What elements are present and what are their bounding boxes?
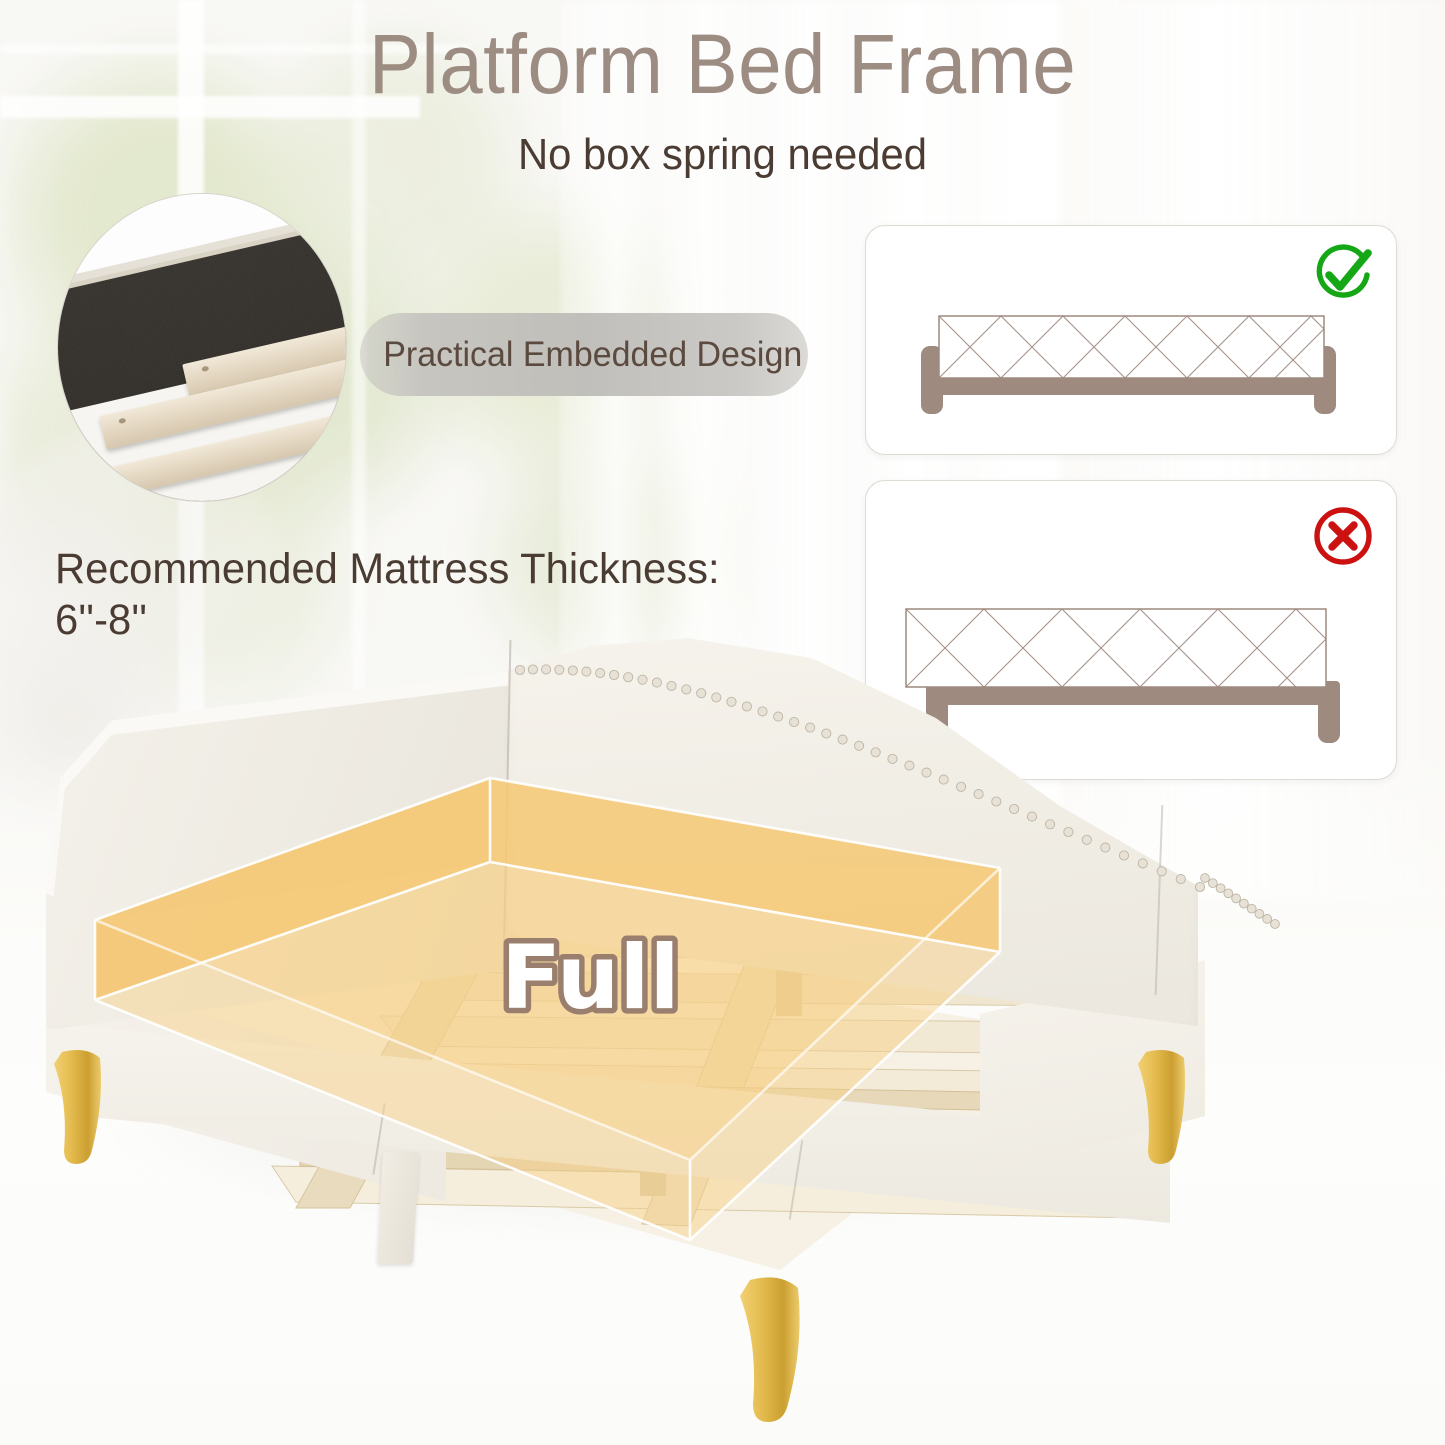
infographic-canvas: Platform Bed Frame No box spring needed … (0, 0, 1445, 1445)
size-label-full: Full (495, 922, 755, 1042)
mattress-thickness-label: Recommended Mattress Thickness: (55, 545, 792, 593)
page-title: Platform Bed Frame (51, 22, 1395, 106)
page-subtitle: No box spring needed (36, 133, 1409, 177)
inset-photo-content (58, 194, 346, 501)
size-label-text: Full (501, 926, 680, 1029)
bed-frame-photo: Full (0, 600, 1445, 1445)
feature-callout-label: Practical Embedded Design (360, 335, 802, 375)
comparison-card-correct (865, 225, 1397, 455)
diagram-correct-mattress (866, 226, 1396, 454)
mattress-correct (939, 316, 1324, 378)
embedded-slat-detail-photo (57, 193, 347, 502)
slat-screw-hole (201, 366, 209, 372)
feature-callout-pill: Practical Embedded Design (360, 313, 808, 396)
slat-screw-hole (118, 418, 126, 424)
